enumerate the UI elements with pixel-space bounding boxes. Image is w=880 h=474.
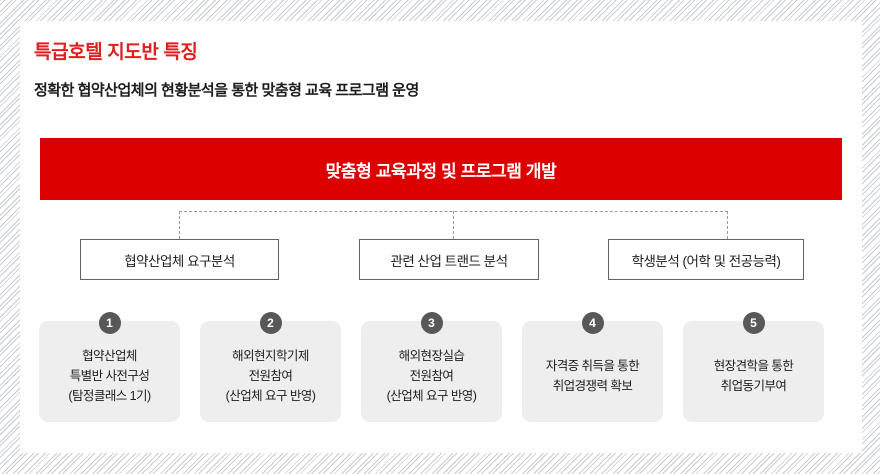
numbered-card-2: 2 해외현지학기제 전원참여 (산업체 요구 반영) bbox=[200, 321, 341, 422]
page-subtitle: 정확한 협약산업체의 현황분석을 통한 맞춤형 교육 프로그램 운영 bbox=[34, 79, 419, 100]
card-text-line: 전원참여 bbox=[410, 367, 454, 385]
page-title: 특급호텔 지도반 특징 bbox=[34, 37, 197, 64]
card-text-line: (산업체 요구 반영) bbox=[226, 387, 316, 405]
program-banner: 맞춤형 교육과정 및 프로그램 개발 bbox=[40, 138, 842, 200]
card-text-line: 해외현장실습 bbox=[399, 347, 465, 365]
bracket-branch-line-2 bbox=[453, 211, 454, 239]
analysis-box-3: 학생분석 (어학 및 전공능력) bbox=[608, 239, 804, 280]
program-banner-label: 맞춤형 교육과정 및 프로그램 개발 bbox=[326, 157, 557, 182]
card-number-badge: 1 bbox=[99, 312, 121, 334]
card-number-badge: 4 bbox=[582, 312, 604, 334]
numbered-card-4: 4 자격증 취득을 통한 취업경쟁력 확보 bbox=[522, 321, 663, 422]
card-text-block: 자격증 취득을 통한 취업경쟁력 확보 bbox=[546, 357, 639, 395]
bracket-branch-line-3 bbox=[727, 211, 728, 239]
card-text-line: 자격증 취득을 통한 bbox=[546, 357, 639, 375]
card-text-block: 협약산업체 특별반 사전구성 (탐정클래스 1기) bbox=[68, 347, 150, 405]
card-text-line: (탐정클래스 1기) bbox=[68, 387, 150, 405]
card-number-badge: 5 bbox=[743, 312, 765, 334]
card-text-line: 특별반 사전구성 bbox=[70, 367, 150, 385]
card-text-line: 협약산업체 bbox=[82, 347, 137, 365]
numbered-card-3: 3 해외현장실습 전원참여 (산업체 요구 반영) bbox=[361, 321, 502, 422]
card-text-line: 전원참여 bbox=[249, 367, 293, 385]
card-text-block: 해외현지학기제 전원참여 (산업체 요구 반영) bbox=[226, 347, 316, 405]
card-text-line: 현장견학을 통한 bbox=[714, 357, 794, 375]
analysis-box-row: 협약산업체 요구분석 관련 산업 트랜드 분석 학생분석 (어학 및 전공능력) bbox=[20, 239, 862, 280]
analysis-box-label: 학생분석 (어학 및 전공능력) bbox=[632, 250, 781, 270]
card-text-line: (산업체 요구 반영) bbox=[387, 387, 477, 405]
numbered-card-row: 1 협약산업체 특별반 사전구성 (탐정클래스 1기) 2 해외현지학기제 전원… bbox=[20, 312, 862, 422]
analysis-box-1: 협약산업체 요구분석 bbox=[80, 239, 279, 280]
card-number-badge: 2 bbox=[260, 312, 282, 334]
numbered-card-1: 1 협약산업체 특별반 사전구성 (탐정클래스 1기) bbox=[39, 321, 180, 422]
card-text-block: 해외현장실습 전원참여 (산업체 요구 반영) bbox=[387, 347, 477, 405]
card-number-badge: 3 bbox=[421, 312, 443, 334]
analysis-box-label: 협약산업체 요구분석 bbox=[124, 250, 235, 270]
slide-panel: 특급호텔 지도반 특징 정확한 협약산업체의 현황분석을 통한 맞춤형 교육 프… bbox=[20, 21, 862, 453]
card-text-block: 현장견학을 통한 취업동기부여 bbox=[714, 357, 794, 395]
card-text-line: 취업동기부여 bbox=[721, 377, 787, 395]
numbered-card-5: 5 현장견학을 통한 취업동기부여 bbox=[683, 321, 824, 422]
card-text-line: 해외현지학기제 bbox=[232, 347, 309, 365]
card-text-line: 취업경쟁력 확보 bbox=[553, 377, 633, 395]
dashed-bracket-connector bbox=[179, 211, 728, 239]
analysis-box-label: 관련 산업 트랜드 분석 bbox=[390, 250, 507, 270]
analysis-box-2: 관련 산업 트랜드 분석 bbox=[359, 239, 539, 280]
bracket-branch-line-1 bbox=[179, 211, 180, 239]
